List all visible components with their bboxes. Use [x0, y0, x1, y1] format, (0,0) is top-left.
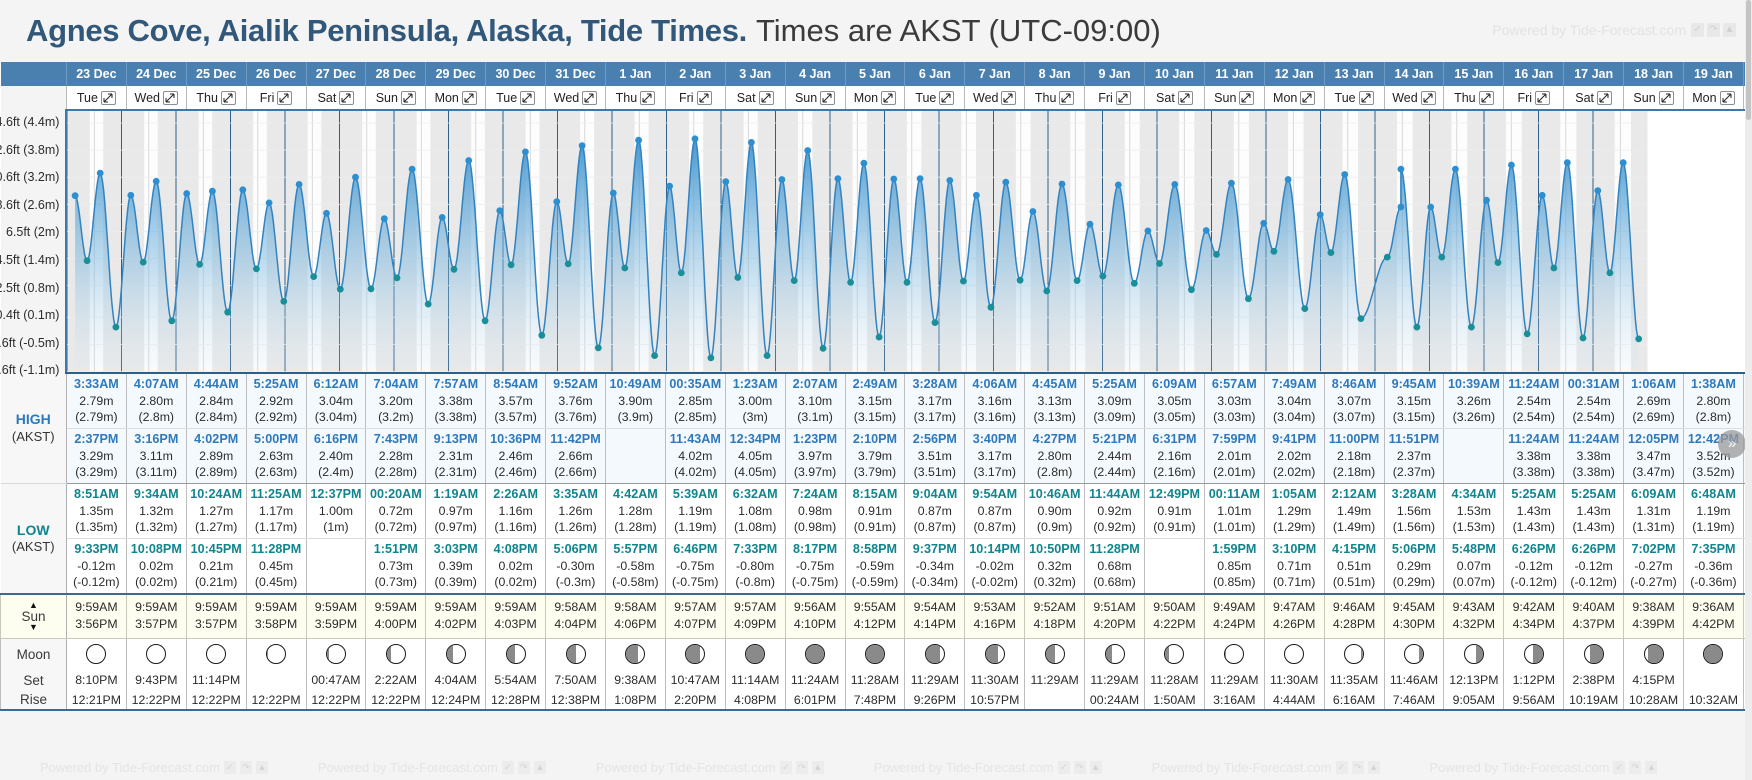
sun-cell: 9:45AM4:30PM	[1384, 594, 1444, 638]
tide-height-alt: (2.69m)	[1625, 409, 1682, 425]
high-tide-cell[interactable]: 2:10PM3.79m(3.79m)	[845, 429, 905, 484]
low-tide-cell[interactable]: 7:02PM-0.27m(-0.27m)	[1624, 539, 1684, 595]
low-tide-row-1: LOW (AKST) 8:51AM1.35m(1.35m)9:34AM1.32m…	[1, 484, 1752, 539]
high-tide-cell[interactable]: 6:16PM2.40m(2.4m)	[306, 429, 366, 484]
tide-height-alt: (3.15m)	[1386, 409, 1443, 425]
sunrise-time: 9:36AM	[1685, 599, 1742, 617]
tide-time: 1:23AM	[727, 376, 784, 393]
weekday-header-cell[interactable]: Mon	[1264, 86, 1324, 110]
tide-height: -0.30m	[547, 558, 604, 574]
low-tide-cell[interactable]: 1:19AM0.97m(0.97m)	[426, 484, 486, 539]
high-tide-cell[interactable]: 4:45AM3.13m(3.13m)	[1025, 373, 1085, 429]
tide-time: 11:24AM	[1505, 376, 1562, 393]
date-header-cell[interactable]: 25 Dec	[186, 62, 246, 86]
low-tide-cell[interactable]: 10:14PM-0.02m(-0.02m)	[965, 539, 1025, 595]
tide-time: 2:49AM	[847, 376, 904, 393]
low-tide-cell[interactable]	[1144, 539, 1204, 595]
high-tide-cell[interactable]: 11:24AM3.38m(3.38m)	[1504, 429, 1564, 484]
tide-height: -0.59m	[847, 558, 904, 574]
date-header-cell[interactable]: 11 Jan	[1204, 62, 1264, 86]
low-tide-cell[interactable]: 12:49PM0.91m(0.91m)	[1144, 484, 1204, 539]
moon-rise-cell: 10:32AM	[1683, 690, 1743, 710]
expand-icon[interactable]	[881, 91, 896, 105]
expand-icon[interactable]	[1178, 91, 1193, 105]
tide-time: 6:46PM	[667, 541, 724, 558]
expand-icon[interactable]	[339, 91, 354, 105]
weekday-header-cell[interactable]: Thu	[605, 86, 665, 110]
weekday-header-cell[interactable]: Wed	[965, 86, 1025, 110]
tide-height-alt: (3.13m)	[1026, 409, 1083, 425]
high-tide-cell[interactable]	[605, 429, 665, 484]
low-tide-cell[interactable]: 8:58PM-0.59m(-0.59m)	[845, 539, 905, 595]
high-tide-cell[interactable]: 9:13PM2.31m(2.31m)	[426, 429, 486, 484]
tide-height: 1.56m	[1386, 503, 1443, 519]
weekday-header-cell[interactable]: Mon	[426, 86, 486, 110]
low-tide-cell[interactable]: 11:44AM0.92m(0.92m)	[1085, 484, 1145, 539]
expand-icon[interactable]	[697, 91, 712, 105]
scroll-right-knob[interactable]: »	[1718, 430, 1746, 458]
tide-height: 3.09m	[1086, 393, 1143, 409]
low-tide-cell[interactable]: 5:25AM1.43m(1.43m)	[1564, 484, 1624, 539]
tide-time: 10:36PM	[487, 431, 544, 448]
tide-height-alt: (2.44m)	[1086, 464, 1143, 480]
expand-icon[interactable]	[1421, 91, 1436, 105]
date-header-cell[interactable]: 15 Jan	[1444, 62, 1504, 86]
moon-rise-row: Rise 12:21PM12:22PM12:22PM12:22PM12:22PM…	[1, 690, 1752, 710]
weekday-label: Wed	[1392, 91, 1417, 105]
expand-icon[interactable]	[1001, 91, 1016, 105]
high-tide-cell[interactable]: 7:49AM3.04m(3.04m)	[1264, 373, 1324, 429]
high-tide-cell[interactable]: 11:42PM2.66m(2.66m)	[546, 429, 606, 484]
low-tide-cell[interactable]: 4:34AM1.53m(1.53m)	[1444, 484, 1504, 539]
moon-rise-cell: 12:28PM	[486, 690, 546, 710]
tide-time: 10:24AM	[188, 486, 245, 503]
date-header-cell[interactable]: 9 Jan	[1085, 62, 1145, 86]
weekday-header-cell[interactable]: Wed	[126, 86, 186, 110]
low-tide-cell[interactable]: 3:28AM1.56m(1.56m)	[1384, 484, 1444, 539]
low-tide-cell[interactable]: 5:25AM1.43m(1.43m)	[1504, 484, 1564, 539]
date-header-cell[interactable]: 8 Jan	[1025, 62, 1085, 86]
tide-height-alt: (1.35m)	[68, 519, 125, 535]
tide-height: 2.69m	[1625, 393, 1682, 409]
high-tide-cell[interactable]: 3:40PM3.17m(3.17m)	[965, 429, 1025, 484]
weekday-header-cell[interactable]: Fri	[1504, 86, 1564, 110]
tide-time: 7:43PM	[367, 431, 424, 448]
high-tide-cell[interactable]: 00:35AM2.85m(2.85m)	[665, 373, 725, 429]
high-tide-cell[interactable]: 11:43AM4.02m(4.02m)	[665, 429, 725, 484]
low-tide-cell[interactable]: 5:57PM-0.58m(-0.58m)	[605, 539, 665, 595]
high-tide-cell[interactable]: 11:24AM2.54m(2.54m)	[1504, 373, 1564, 429]
low-tide-cell[interactable]: 9:37PM-0.34m(-0.34m)	[905, 539, 965, 595]
date-header-cell[interactable]: 17 Jan	[1564, 62, 1624, 86]
expand-icon[interactable]	[277, 91, 292, 105]
weekday-label: Sat	[1575, 91, 1594, 105]
expand-icon[interactable]	[163, 91, 178, 105]
low-tide-cell[interactable]: 4:42AM1.28m(1.28m)	[605, 484, 665, 539]
date-header-cell[interactable]: 13 Jan	[1324, 62, 1384, 86]
high-tide-cell[interactable]: 5:25AM2.92m(2.92m)	[246, 373, 306, 429]
sunrise-time: 9:53AM	[966, 599, 1023, 617]
high-tide-cell[interactable]: 10:49AM3.90m(3.9m)	[605, 373, 665, 429]
date-header-cell[interactable]: 2 Jan	[665, 62, 725, 86]
expand-icon[interactable]	[1720, 91, 1735, 105]
moon-rise-cell: 4:08PM	[725, 690, 785, 710]
high-tide-cell[interactable]: 3:33AM2.79m(2.79m)	[66, 373, 126, 429]
high-tide-cell[interactable]: 5:00PM2.63m(2.63m)	[246, 429, 306, 484]
tide-height: 3.15m	[1386, 393, 1443, 409]
expand-icon[interactable]	[1535, 91, 1550, 105]
tide-height: 3.97m	[787, 448, 844, 464]
expand-icon[interactable]	[820, 91, 835, 105]
weekday-header-cell[interactable]: Sun	[785, 86, 845, 110]
low-tide-cell[interactable]: 2:12AM1.49m(1.49m)	[1324, 484, 1384, 539]
expand-icon[interactable]	[1479, 91, 1494, 105]
refresh-badge-icon: ↷	[1707, 23, 1720, 37]
low-tide-cell[interactable]: 9:34AM1.32m(1.32m)	[126, 484, 186, 539]
expand-icon[interactable]	[520, 91, 535, 105]
high-tide-cell[interactable]: 11:00PM2.18m(2.18m)	[1324, 429, 1384, 484]
high-tide-cell[interactable]: 9:45AM3.15m(3.15m)	[1384, 373, 1444, 429]
weekday-header-cell[interactable]: Tue	[1324, 86, 1384, 110]
low-tide-cell[interactable]: 10:45PM0.21m(0.21m)	[186, 539, 246, 595]
high-tide-cell[interactable]: 12:34PM4.05m(4.05m)	[725, 429, 785, 484]
high-tide-cell[interactable]: 2:49AM3.15m(3.15m)	[845, 373, 905, 429]
low-tide-cell[interactable]: 1:51PM0.73m(0.73m)	[366, 539, 426, 595]
low-tide-cell[interactable]: 11:25AM1.17m(1.17m)	[246, 484, 306, 539]
low-tide-cell[interactable]: 10:24AM1.27m(1.27m)	[186, 484, 246, 539]
low-tide-cell[interactable]: 6:09AM1.31m(1.31m)	[1624, 484, 1684, 539]
weekday-label: Tue	[496, 91, 517, 105]
tide-height: 2.46m	[487, 448, 544, 464]
high-tide-cell[interactable]: 6:12AM3.04m(3.04m)	[306, 373, 366, 429]
high-tide-cell[interactable]: 4:02PM2.89m(2.89m)	[186, 429, 246, 484]
tide-height-alt: (0.85m)	[1206, 574, 1263, 590]
weekday-header-cell[interactable]: Sun	[1204, 86, 1264, 110]
low-tide-cell[interactable]: 3:03PM0.39m(0.39m)	[426, 539, 486, 595]
tide-height: 3.38m	[1505, 448, 1562, 464]
date-header-cell[interactable]: 7 Jan	[965, 62, 1025, 86]
vertical-scrollbar[interactable]	[1745, 0, 1752, 780]
expand-icon[interactable]	[939, 91, 954, 105]
date-header-cell[interactable]: 14 Jan	[1384, 62, 1444, 86]
high-tide-cell[interactable]: 7:04AM3.20m(3.2m)	[366, 373, 426, 429]
low-tide-cell[interactable]: 12:37PM1.00m(1m)	[306, 484, 366, 539]
expand-icon[interactable]	[221, 91, 236, 105]
date-header-cell[interactable]: 10 Jan	[1144, 62, 1204, 86]
date-header-cell[interactable]: 16 Jan	[1504, 62, 1564, 86]
weekday-header-cell[interactable]: Sun	[1624, 86, 1684, 110]
high-tide-cell[interactable]: 7:43PM2.28m(2.28m)	[366, 429, 426, 484]
low-tide-cell[interactable]: 6:46PM-0.75m(-0.75m)	[665, 539, 725, 595]
tide-height-alt: (1.43m)	[1565, 519, 1622, 535]
sunset-time: 4:26PM	[1266, 616, 1323, 634]
date-header-cell[interactable]: 4 Jan	[785, 62, 845, 86]
sun-cell: 9:52AM4:18PM	[1025, 594, 1085, 638]
date-header-cell[interactable]: 26 Dec	[246, 62, 306, 86]
tide-time: 4:08PM	[487, 541, 544, 558]
moon-set-cell: 11:28AM	[845, 670, 905, 690]
weekday-header-cell[interactable]: Sun	[366, 86, 426, 110]
low-tide-cell[interactable]: 5:48PM0.07m(0.07m)	[1444, 539, 1504, 595]
low-tide-cell[interactable]: 5:06PM-0.30m(-0.3m)	[546, 539, 606, 595]
high-tide-cell[interactable]: 6:09AM3.05m(3.05m)	[1144, 373, 1204, 429]
check-badge-icon: ✓	[502, 761, 514, 774]
tide-height: 0.02m	[487, 558, 544, 574]
date-header-cell[interactable]: 27 Dec	[306, 62, 366, 86]
expand-icon[interactable]	[1359, 91, 1374, 105]
weekday-header-cell[interactable]: Sat	[1144, 86, 1204, 110]
low-tide-cell[interactable]: 5:39AM1.19m(1.19m)	[665, 484, 725, 539]
weekday-header-cell[interactable]: Mon	[845, 86, 905, 110]
sunrise-time: 9:40AM	[1565, 599, 1622, 617]
low-tide-cell[interactable]: 7:35PM-0.36m(-0.36m)	[1683, 539, 1743, 595]
tide-height: 4.02m	[667, 448, 724, 464]
date-header-cell[interactable]: 1 Jan	[605, 62, 665, 86]
watermark-bottom-item: Powered by Tide-Forecast.com✓↷▲	[1152, 760, 1380, 775]
weekday-header-cell[interactable]: Thu	[1025, 86, 1085, 110]
date-header-cell[interactable]: 24 Dec	[126, 62, 186, 86]
weekday-header-cell[interactable]: Fri	[665, 86, 725, 110]
low-tide-cell[interactable]: 8:15AM0.91m(0.91m)	[845, 484, 905, 539]
warning-badge-icon: ▲	[1090, 761, 1102, 774]
date-header-cell[interactable]: 30 Dec	[486, 62, 546, 86]
low-tide-cell[interactable]	[306, 539, 366, 595]
expand-icon[interactable]	[582, 91, 597, 105]
moon-set-cell: 2:22AM	[366, 670, 426, 690]
tide-height-alt: (3.1m)	[787, 409, 844, 425]
low-tide-cell[interactable]: 11:28PM0.68m(0.68m)	[1085, 539, 1145, 595]
tide-height: 1.29m	[1266, 503, 1323, 519]
sunrise-time: 9:45AM	[1386, 599, 1443, 617]
tide-height: 2.84m	[188, 393, 245, 409]
low-tide-cell[interactable]: 6:26PM-0.12m(-0.12m)	[1564, 539, 1624, 595]
tide-time: 7:57AM	[427, 376, 484, 393]
weekday-header-cell[interactable]: Wed	[546, 86, 606, 110]
high-tide-cell[interactable]: 10:36PM2.46m(2.46m)	[486, 429, 546, 484]
weekday-header-cell[interactable]: Mon	[1683, 86, 1743, 110]
low-tide-cell[interactable]: 6:32AM1.08m(1.08m)	[725, 484, 785, 539]
weekday-header-cell[interactable]: Wed	[1384, 86, 1444, 110]
low-tide-cell[interactable]: 6:26PM-0.12m(-0.12m)	[1504, 539, 1564, 595]
low-label: LOW	[2, 522, 65, 540]
low-tide-cell[interactable]: 1:05AM1.29m(1.29m)	[1264, 484, 1324, 539]
expand-icon[interactable]	[1597, 91, 1612, 105]
high-tide-cell[interactable]: 2:07AM3.10m(3.1m)	[785, 373, 845, 429]
high-tide-cell[interactable]: 4:06AM3.16m(3.16m)	[965, 373, 1025, 429]
tide-page: Agnes Cove, Aialik Peninsula, Alaska, Ti…	[0, 0, 1752, 780]
low-tide-cell[interactable]: 3:35AM1.26m(1.26m)	[546, 484, 606, 539]
date-header-cell[interactable]: 19 Jan	[1683, 62, 1743, 86]
low-tide-cell[interactable]: 9:33PM-0.12m(-0.12m)	[66, 539, 126, 595]
tide-height-alt: (2.01m)	[1206, 464, 1263, 480]
expand-icon[interactable]	[1300, 91, 1315, 105]
vertical-scrollbar-thumb[interactable]	[1746, 0, 1751, 120]
moon-phase-cell	[66, 638, 126, 670]
high-tide-cell[interactable]: 6:57AM3.03m(3.03m)	[1204, 373, 1264, 429]
date-header-cell[interactable]: 31 Dec	[546, 62, 606, 86]
tide-height-alt: (2.18m)	[1326, 464, 1383, 480]
low-tide-cell[interactable]: 10:50PM0.32m(0.32m)	[1025, 539, 1085, 595]
high-tide-cell[interactable]: 12:05PM3.47m(3.47m)	[1624, 429, 1684, 484]
date-header-cell[interactable]: 23 Dec	[66, 62, 126, 86]
low-tide-cell[interactable]: 6:48AM1.19m(1.19m)	[1683, 484, 1743, 539]
expand-icon[interactable]	[1659, 91, 1674, 105]
low-tide-cell[interactable]: 4:15PM0.51m(0.51m)	[1324, 539, 1384, 595]
low-tide-cell[interactable]: 1:59PM0.85m(0.85m)	[1204, 539, 1264, 595]
low-tide-cell[interactable]: 8:51AM1.35m(1.35m)	[66, 484, 126, 539]
date-header-cell[interactable]: 3 Jan	[725, 62, 785, 86]
sunrise-time: 9:59AM	[487, 599, 544, 617]
tide-time: 00:20AM	[367, 486, 424, 503]
expand-icon[interactable]	[1239, 91, 1254, 105]
weekday-header-cell[interactable]: Thu	[186, 86, 246, 110]
sunrise-time: 9:56AM	[787, 599, 844, 617]
expand-icon[interactable]	[401, 91, 416, 105]
low-tide-cell[interactable]: 9:54AM0.87m(0.87m)	[965, 484, 1025, 539]
expand-icon[interactable]	[462, 91, 477, 105]
date-header-cell[interactable]: 29 Dec	[426, 62, 486, 86]
high-tide-cell[interactable]: 2:37PM3.29m(3.29m)	[66, 429, 126, 484]
moon-rise-cell: 12:21PM	[66, 690, 126, 710]
high-tide-cell[interactable]	[1444, 429, 1504, 484]
tide-curve-chart[interactable]	[66, 110, 1752, 373]
expand-icon[interactable]	[101, 91, 116, 105]
tide-time: 3:16PM	[128, 431, 185, 448]
low-tide-cell[interactable]: 00:11AM1.01m(1.01m)	[1204, 484, 1264, 539]
expand-icon[interactable]	[759, 91, 774, 105]
high-tide-cell[interactable]: 11:51PM2.37m(2.37m)	[1384, 429, 1444, 484]
sunset-time: 4:24PM	[1206, 616, 1263, 634]
tide-time: 10:14PM	[966, 541, 1023, 558]
high-tide-cell[interactable]: 3:16PM3.11m(3.11m)	[126, 429, 186, 484]
low-tide-cell[interactable]: 7:33PM-0.80m(-0.8m)	[725, 539, 785, 595]
high-tide-cell[interactable]: 10:39AM3.26m(3.26m)	[1444, 373, 1504, 429]
high-tide-cell[interactable]: 4:44AM2.84m(2.84m)	[186, 373, 246, 429]
expand-icon[interactable]	[1116, 91, 1131, 105]
tide-height: 3.17m	[966, 448, 1023, 464]
high-tide-cell[interactable]: 5:21PM2.44m(2.44m)	[1085, 429, 1145, 484]
moon-rise-cell: 12:22PM	[246, 690, 306, 710]
moon-rise-cell: 9:05AM	[1444, 690, 1504, 710]
high-tide-cell[interactable]: 1:23PM3.97m(3.97m)	[785, 429, 845, 484]
sunrise-time: 9:59AM	[188, 599, 245, 617]
high-tide-cell[interactable]: 8:54AM3.57m(3.57m)	[486, 373, 546, 429]
high-tide-cell[interactable]: 6:31PM2.16m(2.16m)	[1144, 429, 1204, 484]
low-tide-cell[interactable]: 11:28PM0.45m(0.45m)	[246, 539, 306, 595]
high-tide-cell[interactable]: 7:59PM2.01m(2.01m)	[1204, 429, 1264, 484]
warning-badge-icon: ▲	[812, 761, 824, 774]
tide-time: 5:25AM	[1505, 486, 1562, 503]
tide-time: 3:33AM	[68, 376, 125, 393]
high-tide-cell[interactable]: 8:46AM3.07m(3.07m)	[1324, 373, 1384, 429]
weekday-header-cell[interactable]: Fri	[1085, 86, 1145, 110]
low-tide-cell[interactable]: 3:10PM0.71m(0.71m)	[1264, 539, 1324, 595]
tide-time: 5:57PM	[607, 541, 664, 558]
tide-height-alt: (1.31m)	[1625, 519, 1682, 535]
tide-time: 00:35AM	[667, 376, 724, 393]
moon-set-cell: 11:28AM	[1144, 670, 1204, 690]
low-tide-cell[interactable]: 4:08PM0.02m(0.02m)	[486, 539, 546, 595]
high-tide-cell[interactable]: 1:23AM3.00m(3m)	[725, 373, 785, 429]
date-header-cell[interactable]: 5 Jan	[845, 62, 905, 86]
weekday-header-cell[interactable]: Tue	[486, 86, 546, 110]
moon-set-cell: 9:43PM	[126, 670, 186, 690]
moon-set-cell: 7:50AM	[546, 670, 606, 690]
high-tide-cell[interactable]: 4:27PM2.80m(2.8m)	[1025, 429, 1085, 484]
tide-height: 1.32m	[128, 503, 185, 519]
tide-height: 0.02m	[128, 558, 185, 574]
low-tide-cell[interactable]: 10:08PM0.02m(0.02m)	[126, 539, 186, 595]
tide-height: -0.75m	[787, 558, 844, 574]
weekday-header-cell[interactable]: Tue	[66, 86, 126, 110]
sunset-time: 4:22PM	[1146, 616, 1203, 634]
low-tide-cell[interactable]: 7:24AM0.98m(0.98m)	[785, 484, 845, 539]
high-tide-cell[interactable]: 1:38AM2.80m(2.8m)	[1683, 373, 1743, 429]
date-header-cell[interactable]: 12 Jan	[1264, 62, 1324, 86]
low-tide-cell[interactable]: 9:04AM0.87m(0.87m)	[905, 484, 965, 539]
high-tide-cell[interactable]: 00:31AM2.54m(2.54m)	[1564, 373, 1624, 429]
moon-phase-cell	[306, 638, 366, 670]
tide-height-alt: (3.47m)	[1625, 464, 1682, 480]
high-tide-cell[interactable]: 11:24AM3.38m(3.38m)	[1564, 429, 1624, 484]
weekday-header-cell[interactable]: Fri	[246, 86, 306, 110]
high-tide-cell[interactable]: 1:06AM2.69m(2.69m)	[1624, 373, 1684, 429]
high-tide-cell[interactable]: 9:52AM3.76m(3.76m)	[546, 373, 606, 429]
low-tide-cell[interactable]: 10:46AM0.90m(0.9m)	[1025, 484, 1085, 539]
date-header-cell[interactable]: 28 Dec	[366, 62, 426, 86]
expand-icon[interactable]	[640, 91, 655, 105]
tide-time: 8:15AM	[847, 486, 904, 503]
high-tide-cell[interactable]: 7:57AM3.38m(3.38m)	[426, 373, 486, 429]
weekday-header-cell[interactable]: Tue	[905, 86, 965, 110]
tide-height-alt: (0.91m)	[1146, 519, 1203, 535]
tide-time: 10:46AM	[1026, 486, 1083, 503]
refresh-badge-icon: ↷	[1352, 761, 1364, 774]
low-tide-cell[interactable]: 8:17PM-0.75m(-0.75m)	[785, 539, 845, 595]
tide-height-alt: (-0.75m)	[667, 574, 724, 590]
tide-time: 4:02PM	[188, 431, 245, 448]
date-header-cell[interactable]: 6 Jan	[905, 62, 965, 86]
weekday-header-cell[interactable]: Thu	[1444, 86, 1504, 110]
check-badge-icon: ✓	[780, 761, 792, 774]
watermark-bottom-text: Powered by Tide-Forecast.com	[596, 760, 776, 775]
high-tide-cell[interactable]: 4:07AM2.80m(2.8m)	[126, 373, 186, 429]
moon-phase-icon	[386, 644, 406, 664]
weekday-header-cell[interactable]: Sat	[306, 86, 366, 110]
weekday-header-cell[interactable]: Sat	[725, 86, 785, 110]
high-tide-cell[interactable]: 5:25AM3.09m(3.09m)	[1085, 373, 1145, 429]
expand-icon[interactable]	[1059, 91, 1074, 105]
low-tide-cell[interactable]: 00:20AM0.72m(0.72m)	[366, 484, 426, 539]
high-tide-cell[interactable]: 3:28AM3.17m(3.17m)	[905, 373, 965, 429]
low-tide-cell[interactable]: 2:26AM1.16m(1.16m)	[486, 484, 546, 539]
moon-set-cell: 11:30AM	[1264, 670, 1324, 690]
chart-row: 14.6ft (4.4m)12.6ft (3.8m)10.6ft (3.2m)8…	[1, 110, 1752, 373]
tide-time: 4:42AM	[607, 486, 664, 503]
sun-cell: 9:36AM4:42PM	[1683, 594, 1743, 638]
high-tide-cell[interactable]: 2:56PM3.51m(3.51m)	[905, 429, 965, 484]
weekday-header-cell[interactable]: Sat	[1564, 86, 1624, 110]
sun-cell: 9:58AM4:06PM	[605, 594, 665, 638]
watermark-bottom-item: Powered by Tide-Forecast.com✓↷▲	[874, 760, 1102, 775]
low-tide-cell[interactable]: 5:06PM0.29m(0.29m)	[1384, 539, 1444, 595]
tide-time: 11:28PM	[1086, 541, 1143, 558]
moon-rise-cell: 12:22PM	[186, 690, 246, 710]
high-tide-cell[interactable]: 9:41PM2.02m(2.02m)	[1264, 429, 1324, 484]
date-header-cell[interactable]: 18 Jan	[1624, 62, 1684, 86]
tide-height-alt: (2.46m)	[487, 464, 544, 480]
sunset-time: 4:06PM	[607, 616, 664, 634]
